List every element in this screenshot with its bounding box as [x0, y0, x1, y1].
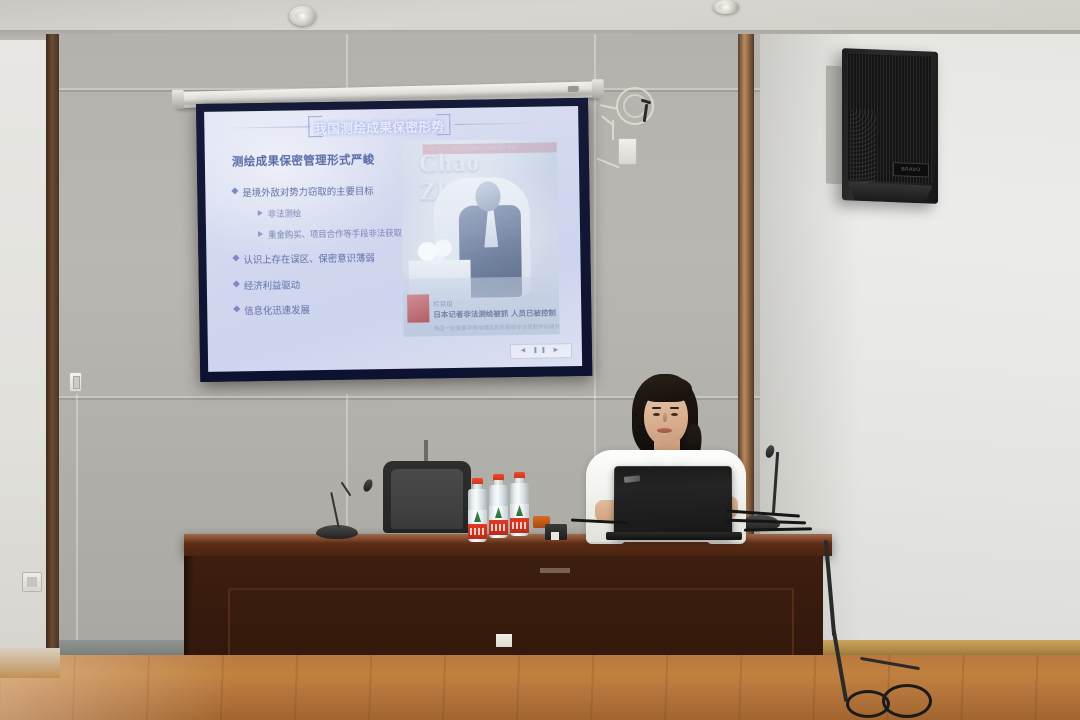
bullet-item: 认识上存在误区、保密意识薄弱: [233, 250, 374, 266]
conference-room-photo: BRAVO 我国测绘成果保密形势 测绘成果保密管理形式严峻: [0, 0, 1080, 720]
bottle-label-red: [489, 520, 508, 535]
laptop-logo-icon: [624, 475, 640, 483]
speaker-brand-badge: BRAVO: [893, 162, 929, 177]
panel-seam: [76, 394, 78, 664]
slide-title-frame: 我国测绘成果保密形势: [308, 114, 450, 137]
water-bottle[interactable]: [489, 474, 508, 538]
wall-outlet-box[interactable]: [618, 138, 637, 165]
water-bottle[interactable]: [468, 478, 487, 542]
bullet-item: 是境外敌对势力窃取的主要目标: [232, 183, 373, 199]
bottle-label-red: [468, 524, 487, 539]
floor-cable-loop: [882, 684, 932, 718]
bottle-label-red: [510, 518, 529, 533]
presenter-fringe: [640, 376, 692, 402]
laptop[interactable]: [614, 466, 732, 538]
triangle-bullet-icon: [258, 231, 263, 237]
sub-bullet-item: 非法测绘: [258, 207, 302, 220]
speaker-perforation: [850, 108, 876, 195]
floor-left-highlight: [0, 648, 60, 678]
title-rule-right: [454, 123, 540, 125]
video-player-controls[interactable]: ◀ ❚❚ ▶: [510, 343, 572, 359]
embedded-news-screenshot: 之外国无人驾驶航空器非法测绘案件公开 Chao Zhong 栏目组 日本记者非法…: [401, 138, 560, 336]
power-outlet[interactable]: [22, 572, 42, 592]
news-flower-arrangement: [412, 236, 462, 267]
sub-bullet-item: 重金购买、项目合作等手段非法获取: [258, 227, 402, 241]
bullet-text: 是境外敌对势力窃取的主要目标: [242, 183, 373, 199]
news-lower-third: 栏目组 日本记者非法测绘被抓 人员已被控制 我国一些重要涉密地理信息数据被非法获…: [403, 276, 560, 336]
presenter-eyebrow: [670, 407, 679, 409]
roller-end-cap: [592, 79, 604, 98]
ceiling-light-icon: [289, 6, 316, 26]
desk-white-marker: [551, 532, 559, 540]
desk-label-sticker: [496, 634, 512, 647]
speaker-underside: [844, 182, 936, 204]
diamond-bullet-icon: [233, 305, 240, 312]
bullet-text: 经济利益驱动: [244, 277, 300, 292]
presenter-mouth: [657, 428, 672, 433]
presentation-slide: 我国测绘成果保密形势 测绘成果保密管理形式严峻 是境外敌对势力窃取的主要目标 非…: [204, 106, 582, 372]
presenter-eye: [653, 413, 660, 416]
news-caption-small: 栏目组: [433, 298, 453, 308]
triangle-bullet-icon: [258, 210, 263, 216]
desk-top-marking: [540, 568, 570, 573]
wall-speaker: BRAVO: [842, 48, 938, 204]
news-caption-sub: 我国一些重要涉密地理信息数据被非法获取并向境外提供: [433, 322, 559, 332]
light-switch[interactable]: [69, 372, 82, 392]
bullet-text: 信息化迅速发展: [244, 302, 310, 317]
diamond-bullet-icon: [233, 280, 240, 287]
slide-heading: 测绘成果保密管理形式严峻: [232, 151, 375, 169]
chair-backrest: [391, 469, 463, 529]
wall-trim-left: [46, 34, 59, 664]
news-caption-main: 日本记者非法测绘被抓 人员已被控制: [433, 307, 556, 320]
presenter-eyebrow: [652, 407, 661, 409]
bullet-item: 信息化迅速发展: [234, 302, 310, 317]
news-channel-logo: [407, 294, 429, 322]
presenter-eye: [671, 413, 678, 416]
left-white-wall: [0, 40, 46, 660]
panel-seam: [346, 34, 348, 88]
office-chair[interactable]: [383, 461, 471, 533]
roller-knob[interactable]: [568, 86, 579, 92]
ceiling-light-icon: [713, 0, 739, 14]
sub-bullet-text: 非法测绘: [268, 207, 302, 220]
bullet-text: 认识上存在误区、保密意识薄弱: [243, 250, 374, 266]
diamond-bullet-icon: [231, 187, 238, 194]
sub-bullet-text: 重金购买、项目合作等手段非法获取: [268, 227, 402, 241]
coiled-cable: [616, 87, 654, 125]
water-bottle[interactable]: [510, 472, 529, 536]
projector-screen: 我国测绘成果保密形势 测绘成果保密管理形式严峻 是境外敌对势力窃取的主要目标 非…: [196, 98, 592, 382]
roller-end-cap: [172, 90, 184, 109]
bullet-item: 经济利益驱动: [234, 277, 300, 292]
diamond-bullet-icon: [232, 254, 239, 261]
slide-title: 我国测绘成果保密形势: [308, 116, 450, 137]
laptop-base: [606, 532, 742, 540]
presenter-nose: [663, 413, 667, 422]
